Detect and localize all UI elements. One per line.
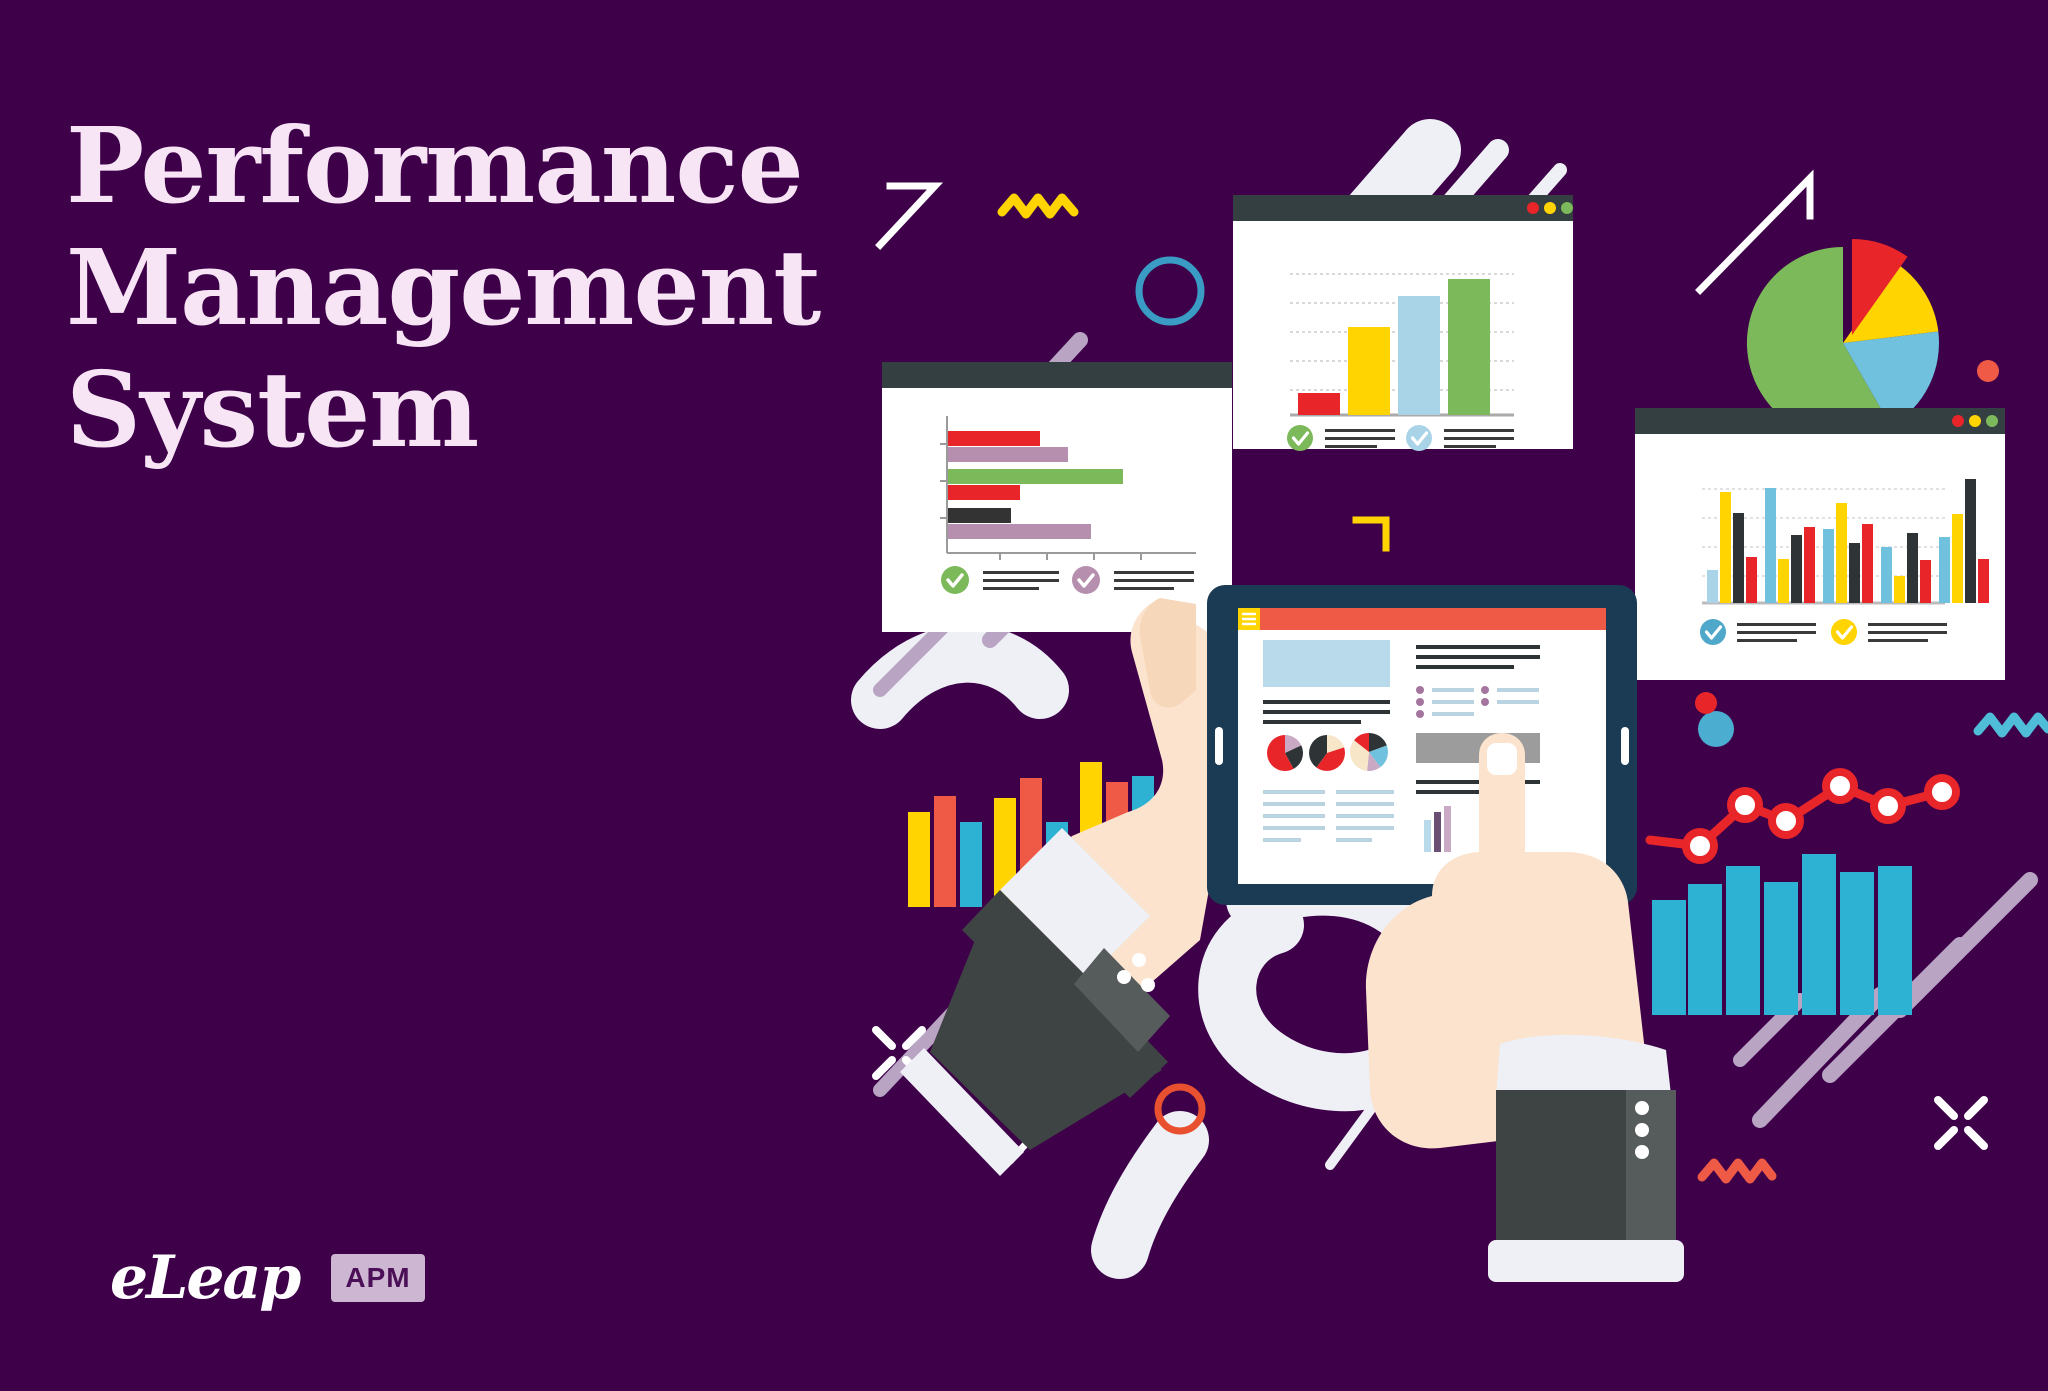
poster-canvas: Performance Management System eLeap APM — [0, 0, 2048, 1391]
window-top-dots[interactable] — [1527, 202, 1573, 214]
sleeve-button — [1635, 1101, 1649, 1115]
window-right-dots[interactable] — [1952, 415, 1998, 427]
close-dot-icon[interactable] — [1952, 415, 1964, 427]
sleeve-button — [1635, 1123, 1649, 1137]
sleeve-button — [1117, 970, 1131, 984]
window-left-titlebar[interactable] — [882, 362, 1232, 388]
hero-image-placeholder — [1263, 640, 1390, 687]
check-icon — [1072, 566, 1100, 594]
check-icon — [1831, 619, 1857, 645]
tablet-app-topbar — [1238, 608, 1606, 630]
window-top[interactable] — [1233, 195, 1573, 449]
red-line-chart — [1650, 772, 1956, 860]
check-icon — [1287, 425, 1313, 451]
maximize-dot-icon[interactable] — [1986, 415, 1998, 427]
logo-badge-apm: APM — [331, 1254, 424, 1302]
window-left[interactable] — [882, 362, 1232, 632]
title-line-2: Management — [66, 227, 886, 349]
window-right[interactable] — [1635, 408, 2005, 680]
logo-wordmark: eLeap — [110, 1248, 299, 1308]
check-icon — [941, 566, 969, 594]
page-title: Performance Management System — [66, 105, 886, 471]
minimize-dot-icon[interactable] — [1969, 415, 1981, 427]
fingernail — [1487, 743, 1517, 775]
tablet-pie-3 — [1350, 733, 1388, 771]
tablet-pie-2 — [1309, 735, 1345, 771]
check-icon — [1406, 425, 1432, 451]
minimize-dot-icon[interactable] — [1544, 202, 1556, 214]
title-line-3: System — [66, 349, 886, 471]
tablet-side-button[interactable] — [1621, 727, 1629, 765]
close-dot-icon[interactable] — [1527, 202, 1539, 214]
cyan-bar-chart — [1652, 854, 1912, 1015]
maximize-dot-icon[interactable] — [1561, 202, 1573, 214]
tablet-side-button[interactable] — [1215, 727, 1223, 765]
check-icon — [1700, 619, 1726, 645]
title-line-1: Performance — [66, 105, 886, 227]
sleeve-button — [1132, 953, 1146, 967]
sleeve-button — [1141, 978, 1155, 992]
window-top-titlebar[interactable] — [1233, 195, 1573, 221]
sleeve-button — [1635, 1145, 1649, 1159]
brand-logo[interactable]: eLeap APM — [110, 1248, 425, 1308]
tablet-pie-1 — [1267, 735, 1303, 771]
window-right-titlebar[interactable] — [1635, 408, 2005, 434]
